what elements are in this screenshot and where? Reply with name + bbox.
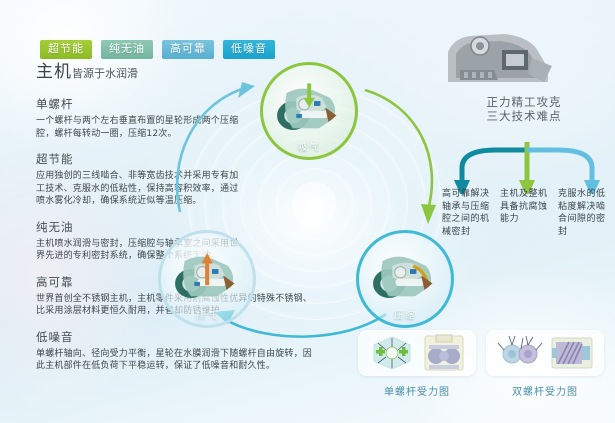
right-panel-title-line2: 三大技术难点 xyxy=(440,109,608,123)
page-title-sub: 皆源于水润滑 xyxy=(72,67,138,80)
cycle-node-intake[interactable]: 吸气 xyxy=(260,62,358,160)
compression-cycle-diagram: 吸气 排气 xyxy=(150,62,480,342)
cycle-node-label: 吸气 xyxy=(260,140,358,153)
badge-oil-free[interactable]: 纯无油 xyxy=(101,40,153,59)
single-screw-force-diagram-icon xyxy=(367,334,417,372)
card-caption: 双螺杆受力图 xyxy=(486,383,604,398)
compressor-airend-icon xyxy=(365,243,445,310)
twin-screw-force-diagram-icon xyxy=(495,334,545,372)
cycle-node-compress[interactable]: 压缩 xyxy=(356,230,454,328)
arrow-intake-to-compress xyxy=(365,90,432,210)
right-panel-title: 正力精工攻克 三大技术难点 xyxy=(440,95,608,123)
card-image-box xyxy=(358,330,476,376)
infographic-page: 超节能 纯无油 高可靠 低噪音 主机皆源于水润滑 单螺杆 一个螺杆与两个左右垂直… xyxy=(0,0,615,423)
feature-badges: 超节能 纯无油 高可靠 低噪音 xyxy=(40,40,275,59)
card-twin-screw[interactable]: 双螺杆受力图 xyxy=(486,330,604,398)
card-caption: 单螺杆受力图 xyxy=(358,383,476,398)
compressor-airend-icon xyxy=(269,75,349,142)
arrow-head-intake-to-compress xyxy=(421,204,436,224)
cycle-node-exhaust[interactable]: 排气 xyxy=(158,230,256,328)
card-image-box xyxy=(486,330,604,376)
challenge-text-2: 主机及整机具备抗腐蚀能力 xyxy=(500,188,552,238)
badge-super-efficient[interactable]: 超节能 xyxy=(40,40,92,59)
three-challenge-arrows xyxy=(442,142,612,194)
badge-high-reliability[interactable]: 高可靠 xyxy=(162,40,214,59)
arrow-exhaust-to-intake xyxy=(177,89,242,212)
twin-screw-rotor-icon xyxy=(549,334,595,372)
page-title-strong: 主机 xyxy=(36,62,72,82)
compressor-photo xyxy=(440,28,556,86)
badge-low-noise[interactable]: 低噪音 xyxy=(223,40,275,59)
challenge-text-columns: 高可靠解决轴承与压缩腔之间的机械密封 主机及整机具备抗腐蚀能力 克服水的低粘度解… xyxy=(442,188,614,238)
section-body: 单螺杆轴向、径向受力平衡，星轮在水膜润滑下随螺杆自由旋转，因此主机部件在低负荷下… xyxy=(36,348,314,373)
challenge-text-3: 克服水的低粘度解决啮合间隙的密封 xyxy=(558,188,610,238)
challenge-text-1: 高可靠解决轴承与压缩腔之间的机械密封 xyxy=(442,188,494,238)
cycle-node-label: 压缩 xyxy=(356,308,454,321)
compressor-airend-icon xyxy=(167,243,247,310)
force-diagram-cards: 单螺杆受力图 xyxy=(358,330,604,398)
right-panel: 正力精工攻克 三大技术难点 xyxy=(440,28,608,123)
card-single-screw[interactable]: 单螺杆受力图 xyxy=(358,330,476,398)
single-screw-rotor-icon xyxy=(421,334,467,372)
cycle-node-label: 排气 xyxy=(158,308,256,321)
arrow-head-exhaust-to-intake xyxy=(238,82,255,98)
right-panel-title-line1: 正力精工攻克 xyxy=(440,95,608,109)
